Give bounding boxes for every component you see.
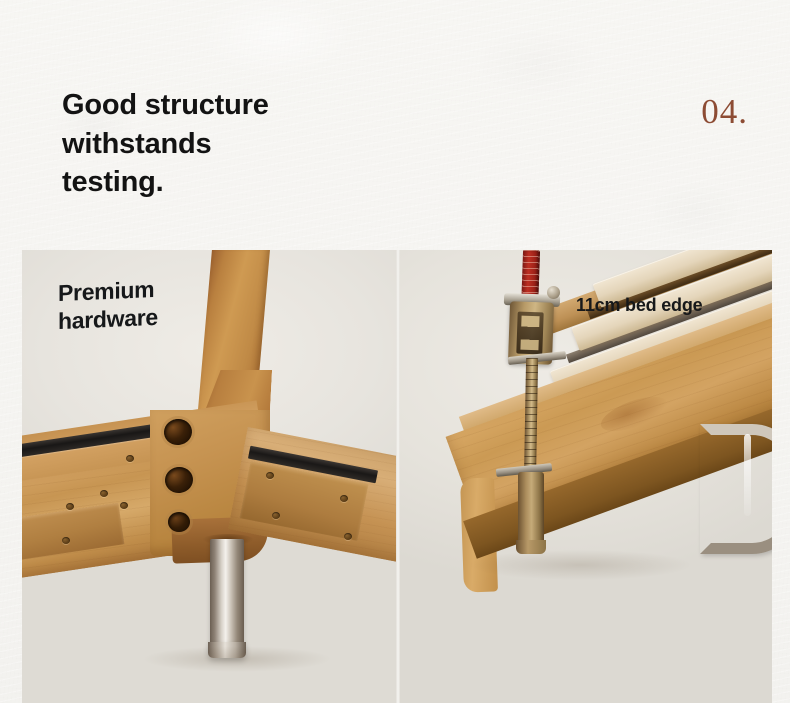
- metal-support-leg-foot: [208, 642, 246, 658]
- caliper-thumbwheel: [547, 286, 560, 299]
- metal-support-bar: [700, 424, 772, 554]
- caliper-depth-tip: [516, 540, 546, 554]
- photo-caption-bed-edge: 11cm bed edge: [576, 295, 702, 317]
- screw-hole: [100, 490, 108, 497]
- metal-support-leg: [210, 539, 244, 649]
- caliper-vernier-digits: [520, 316, 539, 351]
- photo-bed-frame-corner-joint: Premium hardware: [22, 250, 396, 703]
- screw-hole: [344, 533, 352, 540]
- screw-hole: [266, 472, 274, 479]
- photo-band: Premium hardware: [0, 250, 790, 703]
- page-headline: Good structure withstands testing.: [62, 86, 492, 202]
- caliper-depth-body: [518, 472, 544, 546]
- screw-hole: [340, 495, 348, 502]
- bolt-pocket-lower: [168, 512, 190, 532]
- step-number-badge: 04.: [701, 92, 748, 132]
- screw-hole: [120, 502, 128, 509]
- screw-hole: [126, 455, 134, 462]
- photo-divider: [396, 250, 400, 703]
- metal-support-bar-highlight: [744, 434, 751, 516]
- screw-hole: [62, 537, 70, 544]
- photo-bed-edge-measurement: 11cm bed edge: [400, 250, 772, 703]
- product-detail-page: Good structure withstands testing. 04.: [0, 0, 790, 703]
- screw-hole: [272, 512, 280, 519]
- photo-caption-premium-hardware: Premium hardware: [58, 276, 158, 336]
- caliper-vernier-window: [516, 312, 543, 355]
- screw-hole: [66, 503, 74, 510]
